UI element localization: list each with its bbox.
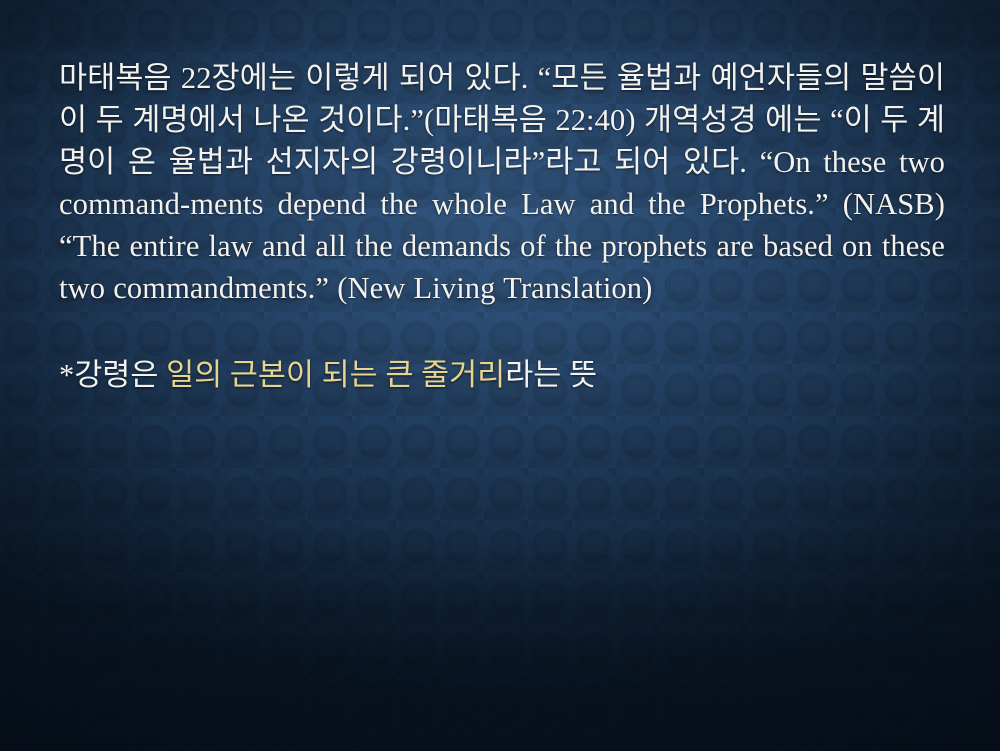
footnote-suffix: 라는 뜻 bbox=[505, 358, 597, 392]
footnote-line: *강령은 일의 근본이 되는 큰 줄거리라는 뜻 bbox=[59, 309, 945, 396]
slide-content: 마태복음 22장에는 이렇게 되어 있다. “모든 율법과 예언자들의 말씀이 … bbox=[59, 57, 945, 396]
scripture-paragraph: 마태복음 22장에는 이렇게 되어 있다. “모든 율법과 예언자들의 말씀이 … bbox=[59, 57, 945, 309]
footnote-highlight: 일의 근본이 되는 큰 줄거리 bbox=[166, 358, 505, 392]
footnote-prefix: *강령은 bbox=[59, 358, 166, 392]
slide-canvas: 마태복음 22장에는 이렇게 되어 있다. “모든 율법과 예언자들의 말씀이 … bbox=[0, 0, 1000, 751]
